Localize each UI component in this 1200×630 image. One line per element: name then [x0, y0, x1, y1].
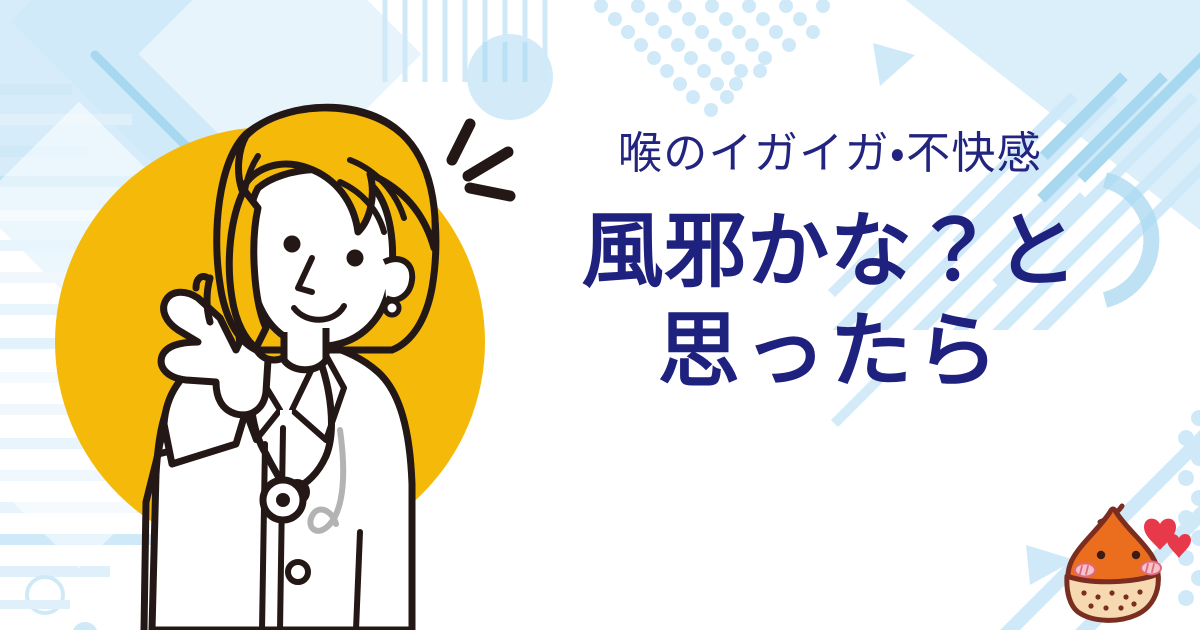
subtitle: 喉のイガイガ・不快感 [560, 128, 1100, 180]
headline-line-2: 思ったら [560, 302, 1100, 402]
ear [384, 259, 412, 300]
chestnut-shell [1067, 574, 1158, 620]
headline: 風邪かな？と 思ったら [560, 202, 1100, 402]
banner-root: 喉のイガイガ・不快感 風邪かな？と 思ったら [0, 0, 1200, 630]
neck [284, 328, 326, 370]
vertical-stripe-group [385, 0, 545, 82]
text-block: 喉のイガイガ・不快感 風邪かな？と 思ったら [560, 128, 1100, 402]
mascot-eye-left [1097, 551, 1105, 559]
coat-button [288, 562, 308, 582]
sparkle-lines [452, 124, 510, 196]
mascot-eye-right [1132, 551, 1140, 559]
eye-right [347, 250, 364, 267]
triangle-shape-solid [873, 43, 915, 86]
chestnut-mascot [1048, 498, 1198, 630]
headline-line-1: 風邪かな？と [560, 202, 1100, 302]
doctor-illustration [40, 92, 540, 630]
heart-icon [1167, 534, 1191, 558]
dot-triangle-pattern [594, 0, 830, 117]
arc-decoration [1105, 180, 1151, 300]
eye-left [284, 236, 301, 253]
earring [385, 301, 399, 315]
